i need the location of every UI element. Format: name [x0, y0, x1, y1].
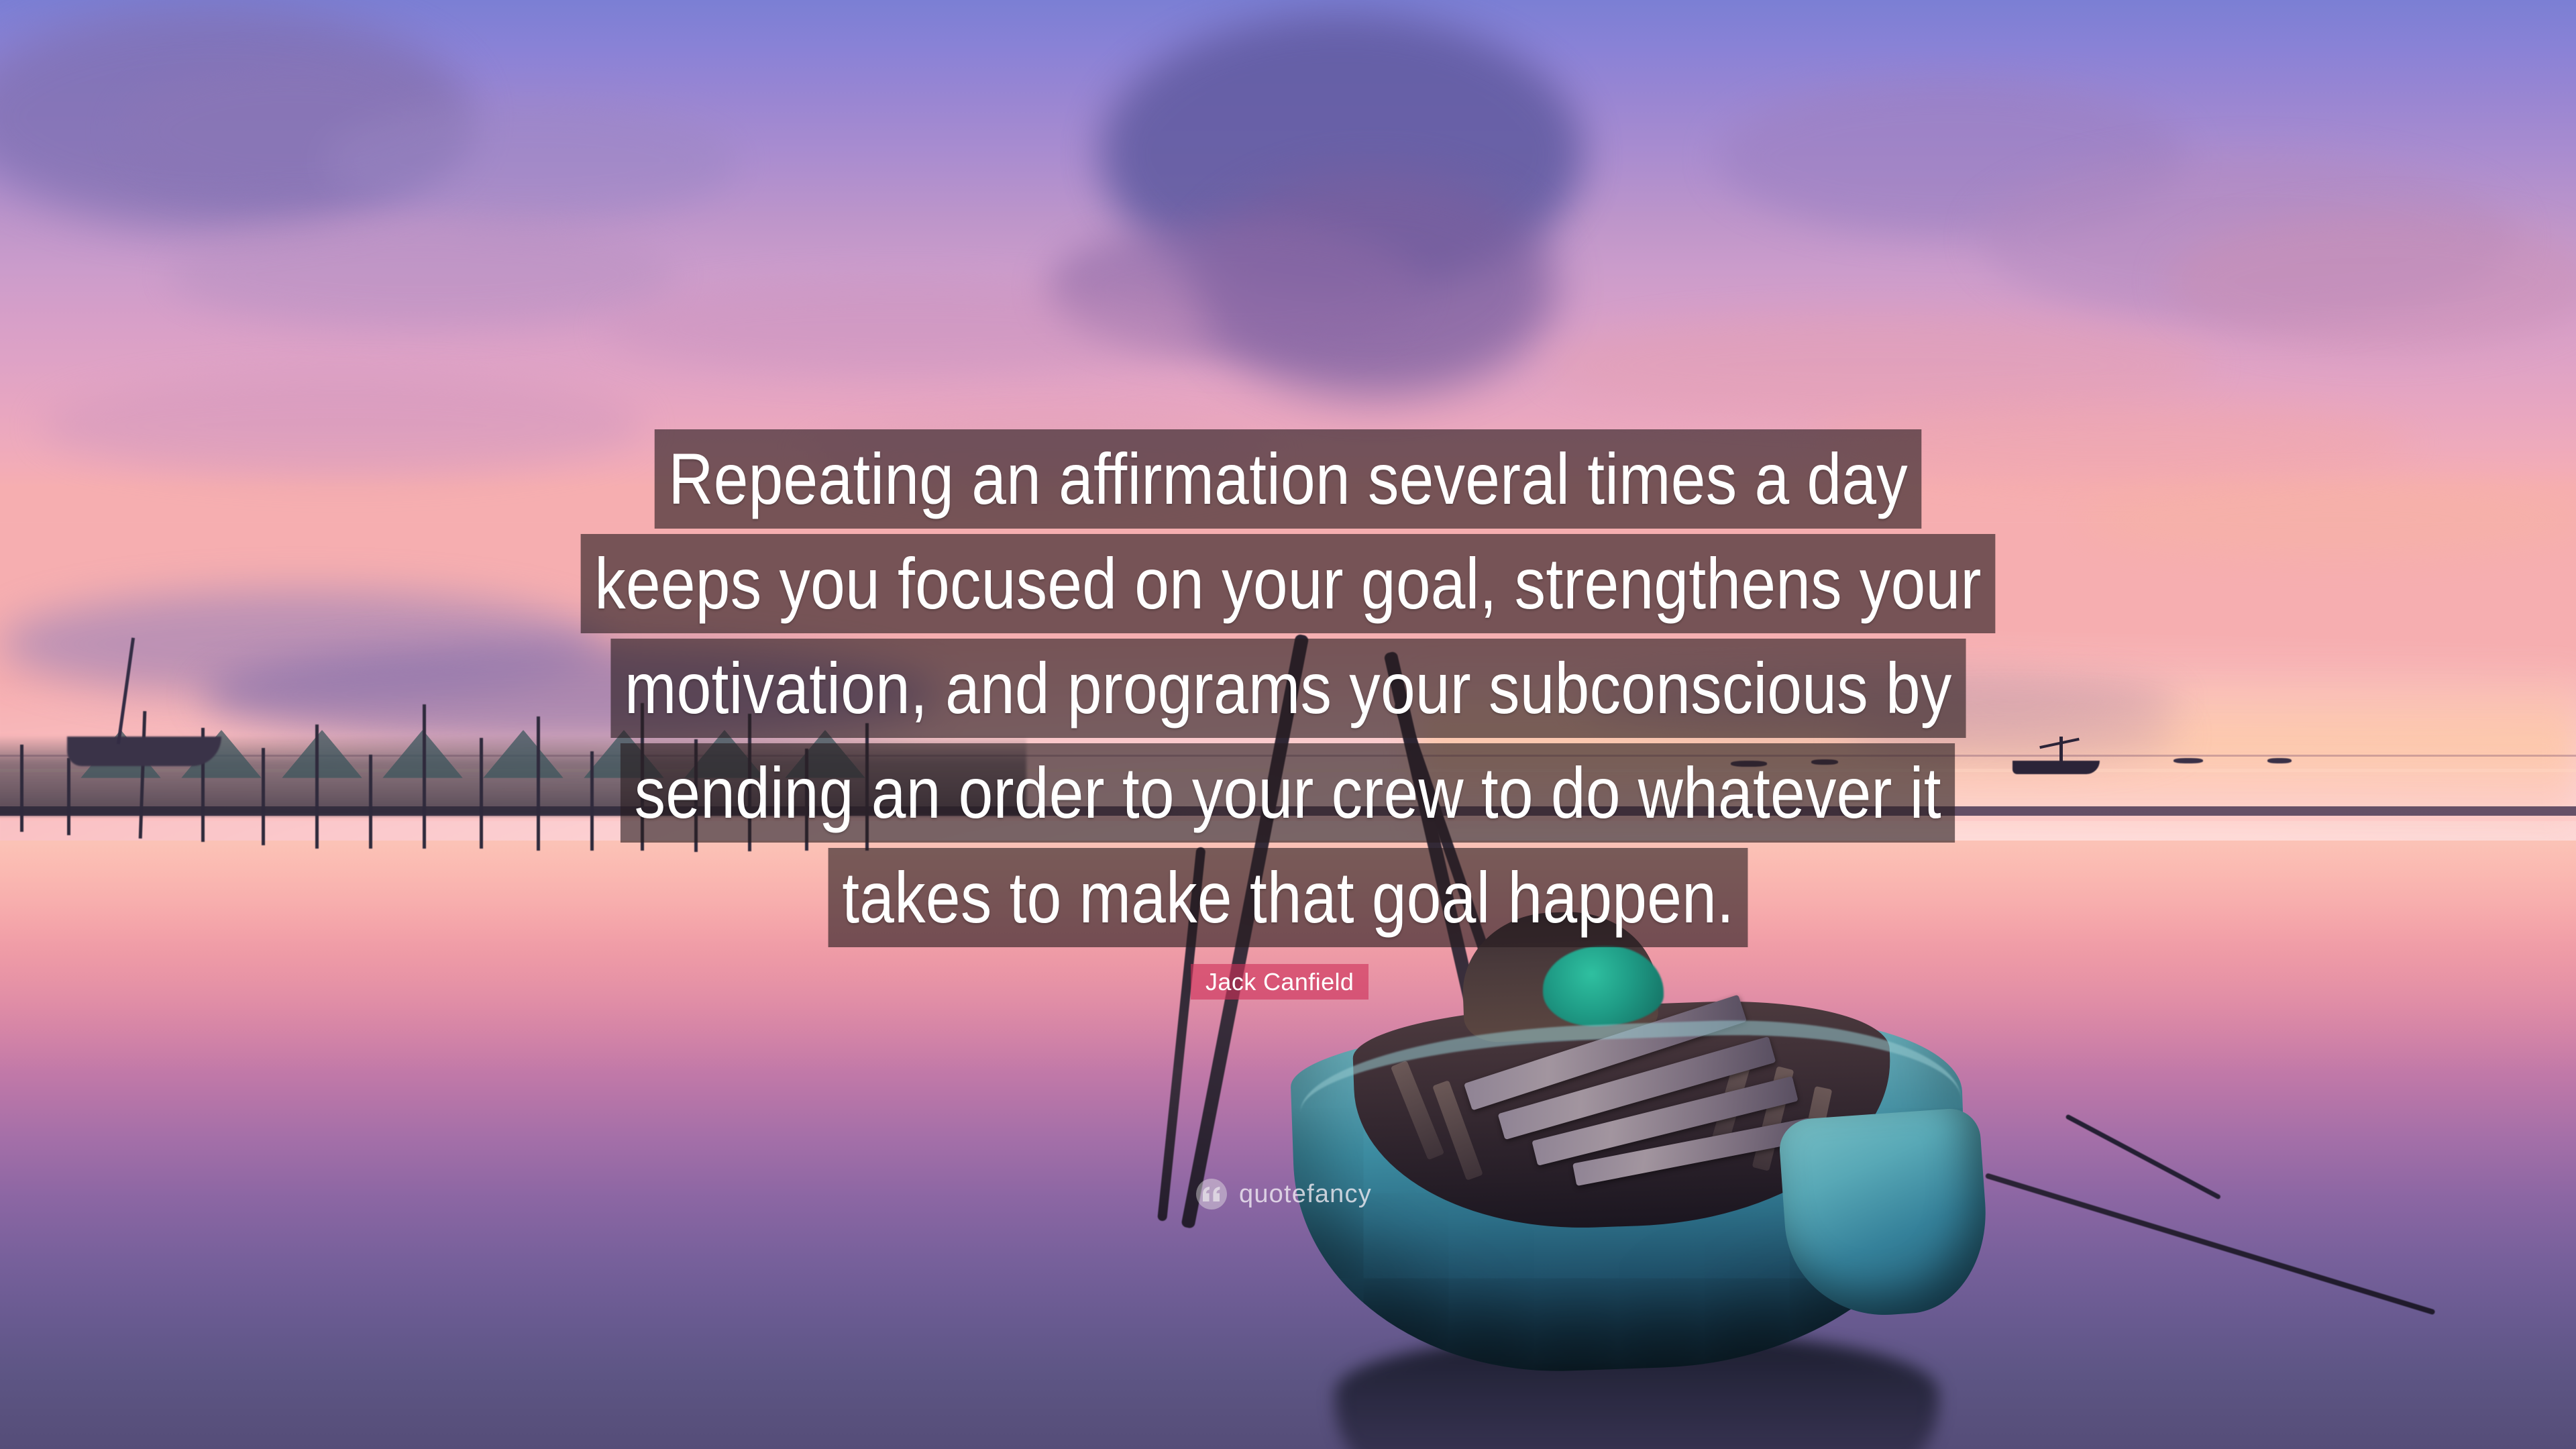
cloud [322, 101, 738, 221]
cloud [2167, 215, 2576, 349]
quote-mark-icon [1196, 1179, 1227, 1210]
rowboat [1295, 892, 2019, 1449]
quote-line: motivation, and programs your subconscio… [610, 639, 1966, 738]
watermark-label: quotefancy [1239, 1180, 1372, 1209]
cloud [1543, 315, 2214, 416]
author-badge[interactable]: Jack Canfield [1191, 964, 1368, 1000]
quotefancy-watermark[interactable]: quotefancy [1196, 1179, 1372, 1210]
cloud [604, 282, 1207, 376]
cloud [168, 221, 678, 329]
quote-poster: Repeating an affirmation several times a… [0, 0, 2576, 1449]
quote-line: takes to make that goal happen. [828, 848, 1748, 947]
quote-line: sending an order to your crew to do what… [621, 743, 1955, 843]
quote-line: Repeating an affirmation several times a… [655, 429, 1922, 529]
fishing-net-bundle [1543, 946, 1664, 1026]
quote-block: Repeating an affirmation several times a… [0, 429, 2576, 953]
quote-line: keeps you focused on your goal, strength… [581, 534, 1996, 633]
